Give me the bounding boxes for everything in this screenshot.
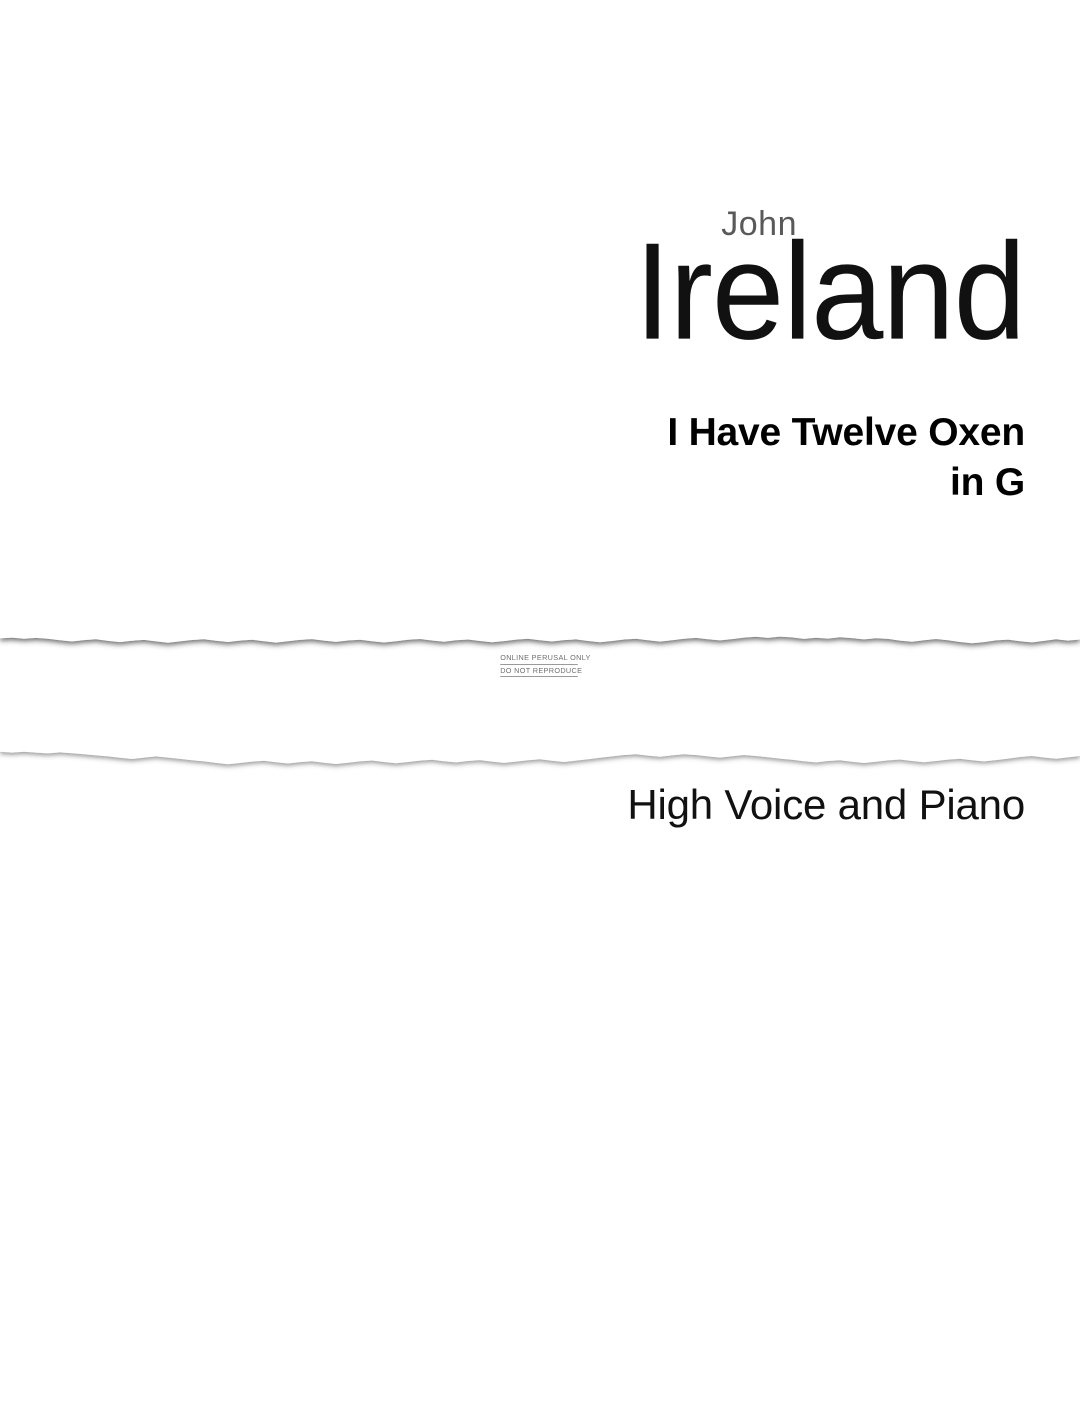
- composer-name: John Ireland: [325, 206, 1025, 346]
- torn-paper-edge-upper-icon: [0, 622, 1080, 656]
- work-key: in G: [265, 458, 1025, 508]
- cover-page: John Ireland I Have Twelve Oxen in G ONL…: [0, 0, 1080, 1416]
- composer-last-name: Ireland: [325, 236, 1025, 346]
- torn-paper-edge-lower-icon: [0, 740, 1080, 774]
- work-title-block: I Have Twelve Oxen in G: [265, 408, 1025, 508]
- instrumentation-block: High Voice and Piano: [265, 780, 1025, 830]
- watermark-line-2: DO NOT REPRODUCE: [500, 666, 578, 678]
- watermark-line-1: ONLINE PERUSAL ONLY: [500, 653, 578, 665]
- instrumentation-label: High Voice and Piano: [265, 780, 1025, 830]
- work-title: I Have Twelve Oxen: [265, 408, 1025, 458]
- watermark: ONLINE PERUSAL ONLY DO NOT REPRODUCE: [499, 653, 579, 677]
